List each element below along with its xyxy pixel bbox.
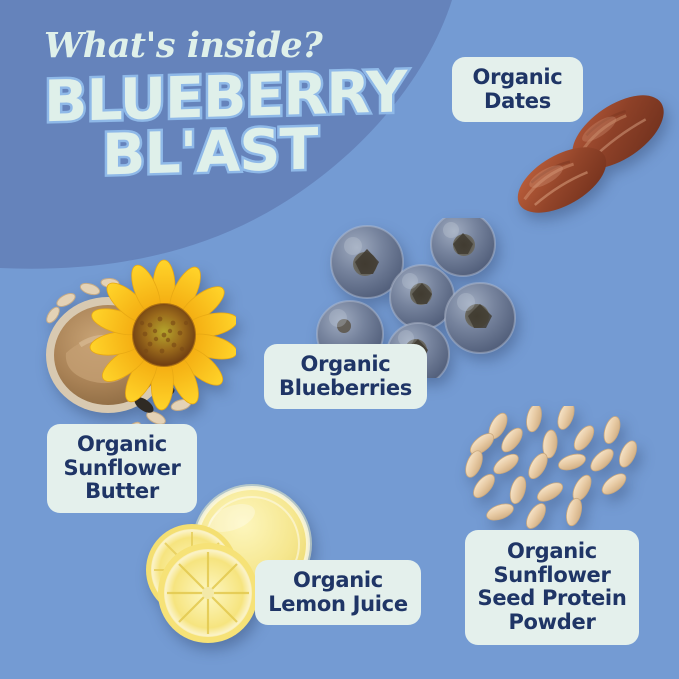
label-organic-dates: Organic Dates: [452, 57, 583, 122]
ingredient-infographic: What's inside? BLUEBERRY BL'AST: [0, 0, 679, 679]
label-line: Organic: [53, 433, 191, 457]
sunflower-butter-photo: [36, 253, 236, 443]
label-line: Powder: [473, 611, 631, 635]
page-title: What's inside?: [44, 28, 424, 63]
label-line: Sunflower: [53, 457, 191, 481]
headline-group: What's inside? BLUEBERRY BL'AST: [44, 28, 424, 178]
label-line: Dates: [460, 90, 575, 114]
label-organic-lemon-juice: Organic Lemon Juice: [255, 560, 421, 625]
label-line: Lemon Juice: [263, 593, 413, 617]
wordmark: BLUEBERRY BL'AST: [44, 71, 424, 178]
label-line: Blueberries: [272, 377, 419, 401]
wordmark-line-2: BL'AST: [102, 121, 424, 182]
label-line: Organic: [272, 353, 419, 377]
label-line: Organic: [263, 569, 413, 593]
label-line: Organic: [473, 540, 631, 564]
label-line: Seed Protein: [473, 587, 631, 611]
label-line: Organic: [460, 66, 575, 90]
label-organic-blueberries: Organic Blueberries: [264, 344, 427, 409]
label-organic-sunflower-seed-protein-powder: Organic Sunflower Seed Protein Powder: [465, 530, 639, 645]
label-line: Sunflower: [473, 564, 631, 588]
sunflower-seeds-photo: [462, 406, 662, 541]
